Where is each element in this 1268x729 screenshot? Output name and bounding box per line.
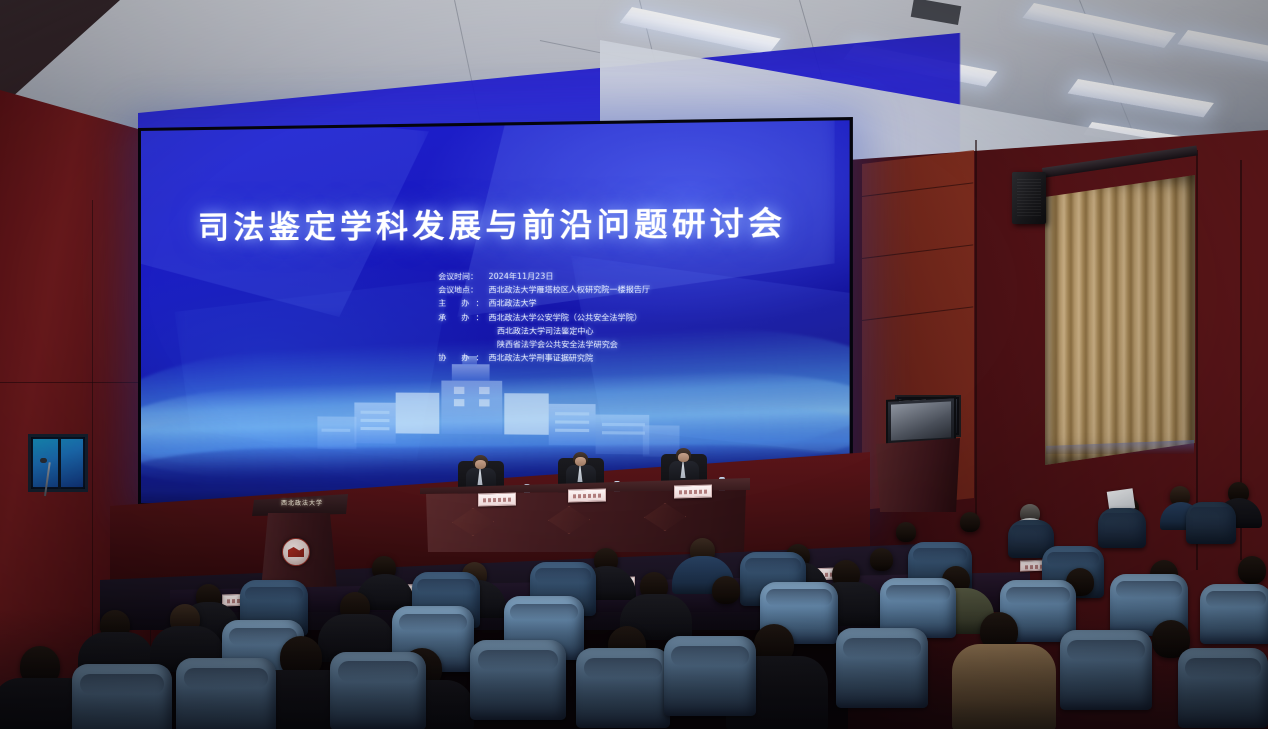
table-decoration [452,508,494,537]
auditorium-seat [1186,502,1236,544]
panelist-face [678,453,689,462]
left-wall-control-window [28,434,88,492]
podium-microphone-head [40,458,47,463]
auditorium-seat [1200,584,1268,644]
screen-detail-label: 主 办： [438,297,488,311]
wall-speaker [1012,172,1046,224]
screen-detail-value: 西北政法大学司法鉴定中心 [497,324,594,338]
panelist-face [475,460,486,469]
screen-detail-value: 西北政法大学公安学院（公共安全法学院） [489,310,642,324]
screen-detail-value: 西北政法大学雁塔校区人权研究院一楼报告厅 [489,283,651,297]
stage-side-desk [876,438,960,512]
podium-label: 西北政法大学 [264,498,340,507]
screen-detail-row: 陕西省法学会公共安全法学研究会 [438,338,650,352]
audience-head [870,548,893,571]
auditorium-photo: 司法鉴定学科发展与前沿问题研讨会 会议时间：2024年11月23日会议地点：西北… [0,0,1268,729]
table-decoration [644,503,686,532]
audience-head [896,522,916,542]
placard-text [679,489,707,494]
audience-head [960,512,980,532]
screen-detail-value: 西北政法大学 [489,297,537,311]
screen-detail-label: 承 办： [438,310,488,324]
placard-text [483,497,511,502]
name-placard [568,489,606,503]
screen-detail-list: 会议时间：2024年11月23日会议地点：西北政法大学雁塔校区人权研究院一楼报告… [438,269,650,365]
audience-head [1238,556,1266,584]
auditorium-seat [576,648,670,728]
wall-panel-seam [975,140,977,520]
wall-horizontal-seam [0,382,150,383]
university-crest-icon [282,538,310,566]
auditorium-seat [1178,648,1268,728]
name-placard [674,485,712,499]
screen-detail-value: 西北政法大学刑事证据研究院 [489,351,594,365]
screen-title: 司法鉴定学科发展与前沿问题研讨会 [141,196,850,248]
panelist-face [575,457,586,466]
screen-detail-row: 主 办：西北政法大学 [438,297,650,311]
audience-head [712,576,740,604]
screen-detail-label: 协 办： [438,351,488,365]
screen-detail-value: 陕西省法学会公共安全法学研究会 [497,338,618,352]
name-placard [478,493,516,507]
screen-detail-label: 会议地点： [438,283,488,297]
auditorium-seat [1098,508,1146,548]
table-decoration [548,506,590,535]
screen-detail-value: 2024年11月23日 [489,269,554,283]
window-curtain[interactable] [1045,175,1195,465]
auditorium-seat [330,652,426,729]
auditorium-seat [176,658,276,729]
auditorium-seat [470,640,566,720]
auditorium-seat [1060,630,1152,710]
auditorium-seat [836,628,928,708]
screen-detail-row: 承 办：西北政法大学公安学院（公共安全法学院） [438,310,650,324]
audience-shoulders [952,644,1056,729]
screen-detail-row: 西北政法大学司法鉴定中心 [438,324,650,338]
screen-detail-row: 会议时间：2024年11月23日 [438,269,650,283]
stage-side-monitor [886,396,956,446]
screen-detail-row: 协 办：西北政法大学刑事证据研究院 [438,351,650,365]
screen-detail-row: 会议地点：西北政法大学雁塔校区人权研究院一楼报告厅 [438,283,650,297]
auditorium-seat [664,636,756,716]
screen-detail-label: 会议时间： [438,270,488,284]
placard-text [573,493,601,498]
auditorium-seat [72,664,172,729]
